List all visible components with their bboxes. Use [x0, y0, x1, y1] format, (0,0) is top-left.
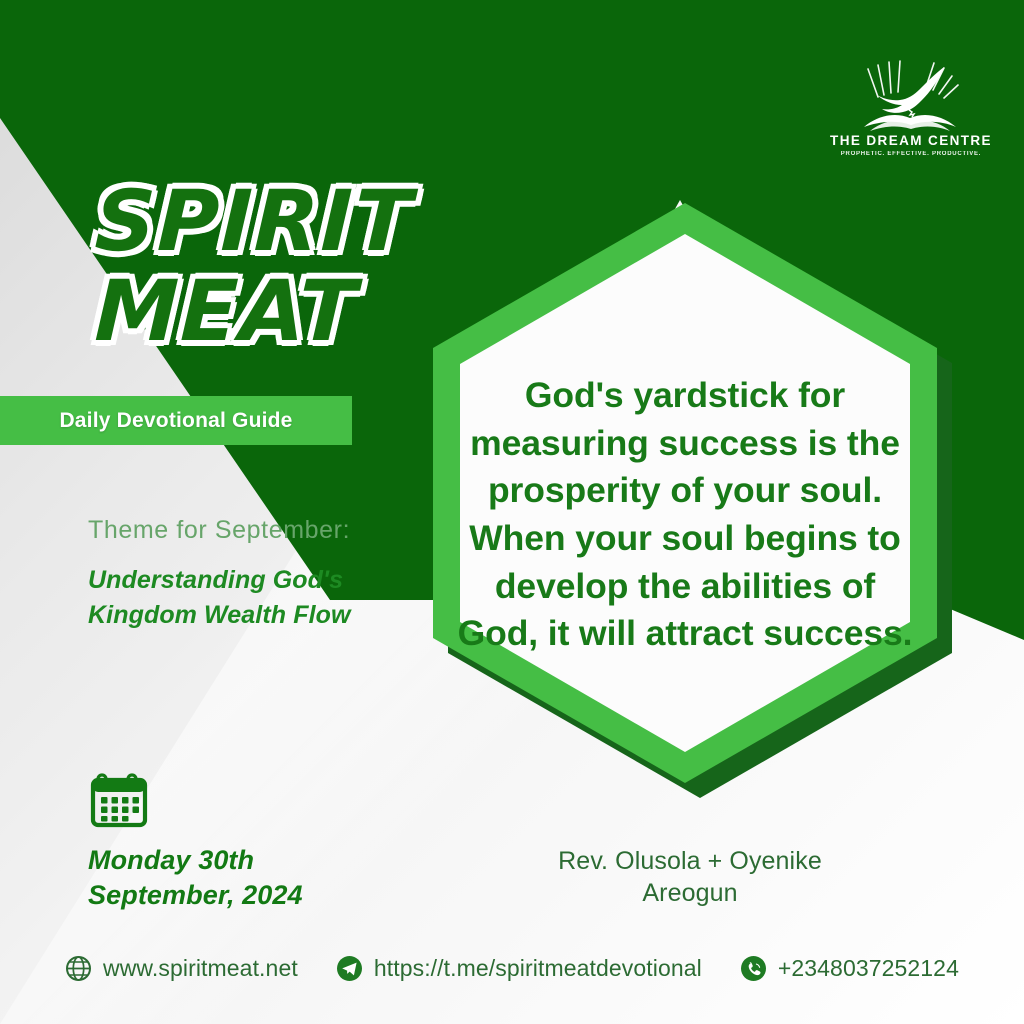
footer-phone-text: +2348037252124 [778, 955, 959, 982]
theme-value-line-1: Understanding God's [88, 563, 418, 599]
quote-container: God's yardstick for measuring success is… [452, 330, 918, 700]
calendar-icon [88, 768, 150, 830]
devotional-badge-label: Daily Devotional Guide [59, 409, 292, 433]
footer-contact-bar: www.spiritmeat.net https://t.me/spiritme… [0, 938, 1024, 998]
eagle-over-open-book-icon [848, 57, 974, 133]
author-line-2: Areogun [500, 877, 880, 909]
author-line-1: Rev. Olusola + Oyenike [500, 845, 880, 877]
brand-logo: THE DREAM CENTRE PROPHETIC. EFFECTIVE. P… [826, 57, 996, 167]
footer-telegram[interactable]: https://t.me/spiritmeatdevotional [336, 955, 702, 982]
footer-telegram-text: https://t.me/spiritmeatdevotional [374, 955, 702, 982]
date-text: Monday 30th September, 2024 [88, 843, 418, 913]
theme-value: Understanding God's Kingdom Wealth Flow [88, 563, 418, 634]
phone-icon [740, 955, 767, 982]
devotional-badge: Daily Devotional Guide [0, 396, 352, 445]
quote-text: God's yardstick for measuring success is… [452, 372, 918, 658]
brand-tagline: PROPHETIC. EFFECTIVE. PRODUCTIVE. [841, 151, 981, 157]
footer-phone[interactable]: +2348037252124 [740, 955, 959, 982]
date-block: Monday 30th September, 2024 [88, 768, 418, 913]
devotional-poster: THE DREAM CENTRE PROPHETIC. EFFECTIVE. P… [0, 0, 1024, 1024]
footer-website[interactable]: www.spiritmeat.net [65, 955, 298, 982]
theme-value-line-2: Kingdom Wealth Flow [88, 598, 418, 634]
masthead: SPIRIT MEAT [95, 180, 515, 353]
theme-block: Theme for September: Understanding God's… [88, 517, 418, 634]
footer-website-text: www.spiritmeat.net [103, 955, 298, 982]
date-line-1: Monday 30th [88, 843, 418, 878]
quote-attribution: Rev. Olusola + Oyenike Areogun [500, 845, 880, 909]
date-line-2: September, 2024 [88, 878, 418, 913]
theme-label: Theme for September: [88, 517, 418, 545]
telegram-icon [336, 955, 363, 982]
globe-icon [65, 955, 92, 982]
brand-name: THE DREAM CENTRE [830, 134, 992, 148]
masthead-line-1: SPIRIT [94, 180, 517, 262]
